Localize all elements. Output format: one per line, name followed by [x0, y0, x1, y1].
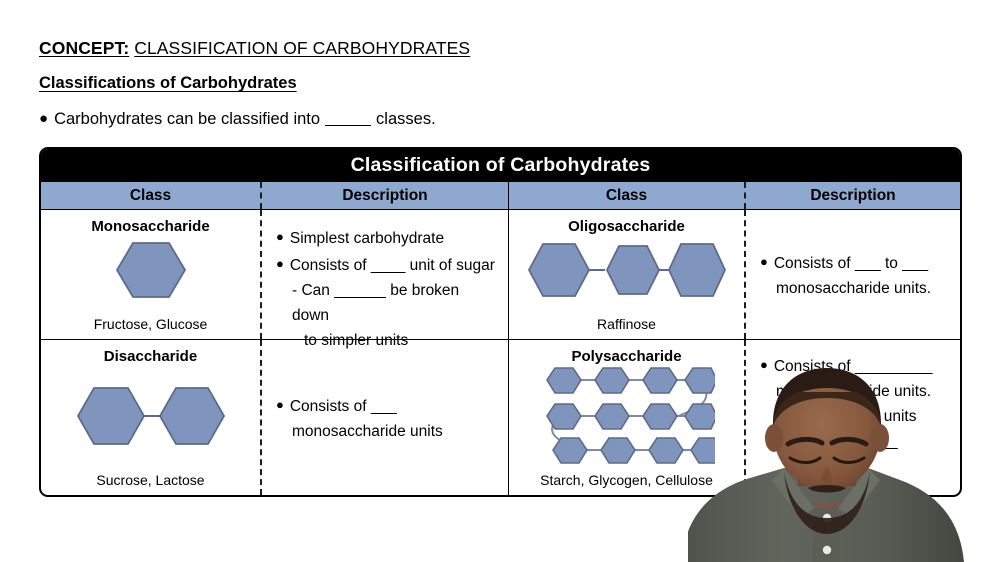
- class-name-monosaccharide: Monosaccharide: [41, 218, 260, 235]
- intro-bullet: ●Carbohydrates can be classified intocla…: [39, 110, 436, 129]
- description-text: monosaccharide units.: [760, 276, 950, 301]
- example-monosaccharide: Fructose, Glucose: [41, 316, 260, 332]
- intro-bullet-post: classes.: [376, 110, 436, 128]
- figure-three-hexagon-chain: [509, 239, 744, 301]
- description-text: _________: [760, 429, 950, 454]
- concept-heading: CONCEPT: CLASSIFICATION OF CARBOHYDRATES: [39, 38, 470, 59]
- bullet-dot-icon: ●: [276, 397, 284, 412]
- fill-blank: [325, 125, 371, 126]
- description-oligosaccharide: ●Consists of ___ to ___ monosaccharide u…: [746, 210, 960, 339]
- cell-monosaccharide-description: ●Simplest carbohydrate ●Consists of ____…: [260, 210, 508, 339]
- example-disaccharide: Sucrose, Lactose: [41, 472, 260, 488]
- example-polysaccharide: Starch, Glycogen, Cellulose: [509, 472, 744, 488]
- description-line: ●Consists of _________: [760, 352, 950, 379]
- cell-polysaccharide-description: ●Consists of _________ monosaccharide un…: [744, 340, 960, 495]
- bullet-dot-icon: ●: [760, 357, 768, 372]
- bullet-dot-icon: ●: [760, 254, 768, 269]
- bullet-dot-icon: ●: [39, 110, 48, 127]
- description-polysaccharide: ●Consists of _________ monosaccharide un…: [746, 340, 960, 454]
- description-text: Simplest carbohydrate: [290, 230, 444, 247]
- cell-oligosaccharide-class: Oligosaccharide Raffinose: [508, 210, 744, 339]
- column-header-description-left: Description: [260, 182, 508, 209]
- cell-disaccharide-class: Disaccharide Sucrose, Lactose: [41, 340, 260, 495]
- table-row: Monosaccharide Fructose, Glucose ●Simple…: [41, 210, 960, 340]
- column-header-description-right: Description: [744, 182, 960, 209]
- figure-polysaccharide-chain: [509, 367, 744, 463]
- class-name-polysaccharide: Polysaccharide: [509, 348, 744, 365]
- description-text: monosaccharide units: [276, 419, 498, 444]
- description-text: - Can ______ be broken down: [276, 278, 498, 328]
- description-monosaccharide: ●Simplest carbohydrate ●Consists of ____…: [262, 210, 508, 353]
- figure-single-hexagon: [41, 239, 260, 301]
- cell-monosaccharide-class: Monosaccharide Fructose, Glucose: [41, 210, 260, 339]
- column-header-class-right: Class: [508, 182, 744, 209]
- table-row: Disaccharide Sucrose, Lactose ●Consists …: [41, 340, 960, 495]
- description-text: - Over ___,000 units: [760, 404, 950, 429]
- classification-table: Classification of Carbohydrates Class De…: [39, 147, 962, 497]
- bullet-dot-icon: ●: [276, 229, 284, 244]
- table-header-row: Class Description Class Description: [41, 181, 960, 210]
- figure-two-hexagon-chain: [41, 381, 260, 451]
- class-name-disaccharide: Disaccharide: [41, 348, 260, 365]
- description-disaccharide: ●Consists of ___ monosaccharide units: [262, 340, 508, 495]
- table-title-bar: Classification of Carbohydrates: [41, 149, 960, 181]
- cell-disaccharide-description: ●Consists of ___ monosaccharide units: [260, 340, 508, 495]
- description-text: Consists of _________: [774, 358, 933, 375]
- section-subheading: Classifications of Carbohydrates: [39, 74, 297, 93]
- description-line: ●Simplest carbohydrate: [276, 224, 498, 251]
- cell-polysaccharide-class: Polysaccharide: [508, 340, 744, 495]
- concept-label: CONCEPT:: [39, 38, 129, 58]
- description-line: ●Consists of ____ unit of sugar: [276, 251, 498, 278]
- bullet-dot-icon: ●: [276, 256, 284, 271]
- concept-title: CLASSIFICATION OF CARBOHYDRATES: [134, 38, 470, 58]
- slide-canvas: CONCEPT: CLASSIFICATION OF CARBOHYDRATES…: [0, 0, 1000, 562]
- cell-oligosaccharide-description: ●Consists of ___ to ___ monosaccharide u…: [744, 210, 960, 339]
- description-line: ●Consists of ___ to ___: [760, 249, 950, 276]
- column-header-class-left: Class: [41, 182, 260, 209]
- intro-bullet-pre: Carbohydrates can be classified into: [54, 110, 320, 128]
- description-text: Consists of ___ to ___: [774, 255, 928, 272]
- description-line: ●Consists of ___: [276, 392, 498, 419]
- description-text: Consists of ____ unit of sugar: [290, 257, 495, 274]
- class-name-oligosaccharide: Oligosaccharide: [509, 218, 744, 235]
- description-text: monosaccharide units.: [760, 379, 950, 404]
- description-text: Consists of ___: [290, 398, 397, 415]
- example-oligosaccharide: Raffinose: [509, 316, 744, 332]
